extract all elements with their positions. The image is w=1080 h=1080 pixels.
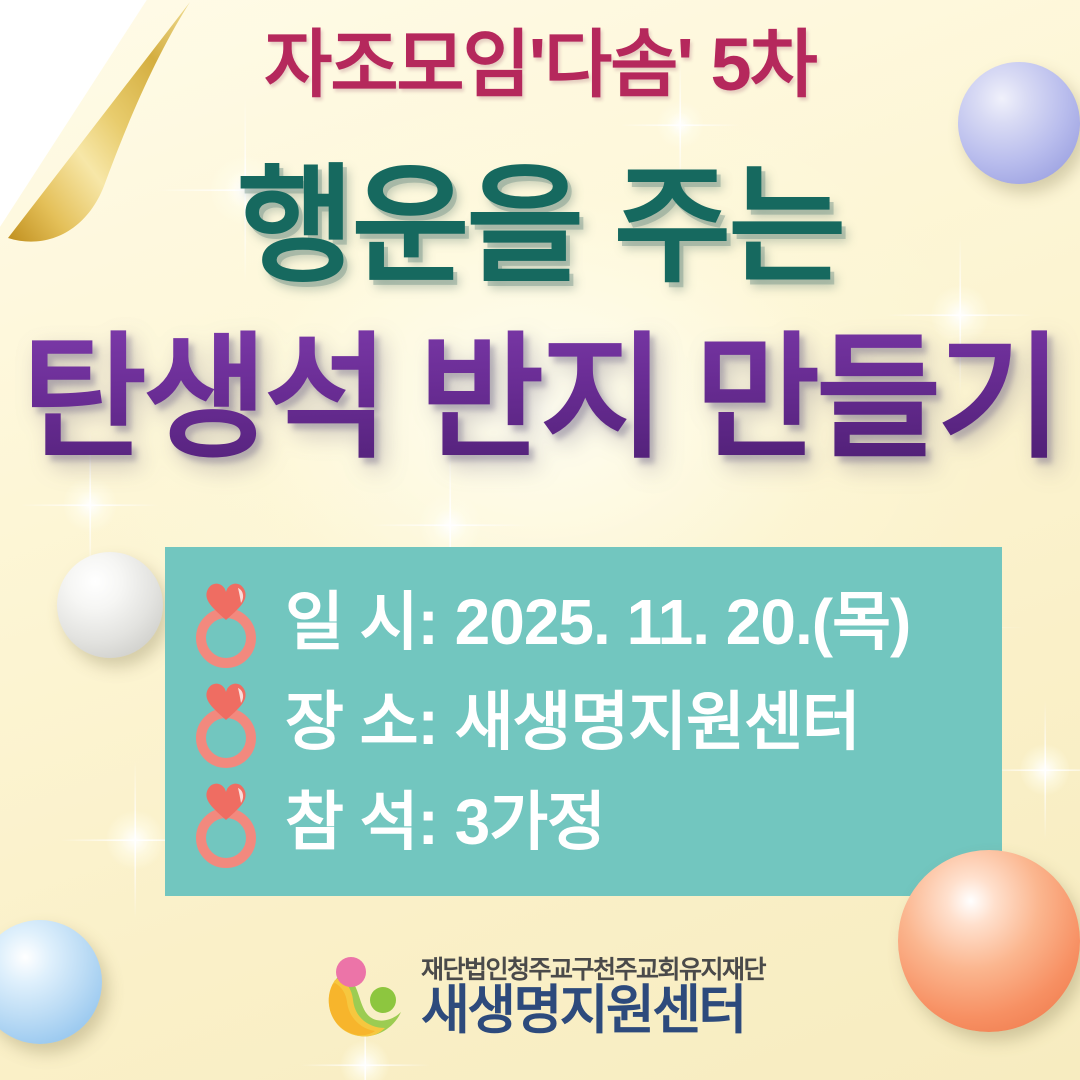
headline-line1: 행운을 주는 — [0, 163, 1080, 291]
footer-logo: 재단법인청주교구천주교회유지재단 새생명지원센터 — [0, 950, 1080, 1046]
event-info-panel: 일 시: 2025. 11. 20.(목) 장 소: 새생명지원센터 참 — [165, 547, 1002, 896]
headline-kicker: 자조모임'다솜' 5차 — [0, 28, 1080, 102]
foundation-name: 재단법인청주교구천주교회유지재단 — [421, 957, 765, 983]
info-row-text: 장 소: 새생명지원센터 — [285, 690, 860, 754]
info-row-place: 장 소: 새생명지원센터 — [193, 672, 1002, 772]
poster-canvas: 일 시: 2025. 11. 20.(목) 장 소: 새생명지원센터 참 — [0, 0, 1080, 1080]
headline-line1-wrap: 행운을 주는 — [0, 163, 1080, 291]
pearl-white-mid-left — [57, 552, 163, 658]
info-row-attendance: 참 석: 3가정 — [193, 772, 1002, 872]
center-name: 새생명지원센터 — [421, 983, 745, 1039]
footer-logo-text: 재단법인청주교구천주교회유지재단 새생명지원센터 — [421, 957, 765, 1039]
info-row-date: 일 시: 2025. 11. 20.(목) — [193, 572, 1002, 672]
headline-line2: 탄생석 반지 만들기 — [0, 330, 1080, 466]
info-row-text: 참 석: 3가정 — [285, 790, 605, 854]
heart-ring-icon — [193, 676, 259, 768]
info-row-text: 일 시: 2025. 11. 20.(목) — [285, 590, 910, 654]
parent-child-logo-icon — [315, 950, 411, 1046]
headline-line2-wrap: 탄생석 반지 만들기 — [0, 330, 1080, 466]
heart-ring-icon — [193, 776, 259, 868]
headline-block: 자조모임'다솜' 5차 — [0, 28, 1080, 102]
heart-ring-icon — [193, 576, 259, 668]
